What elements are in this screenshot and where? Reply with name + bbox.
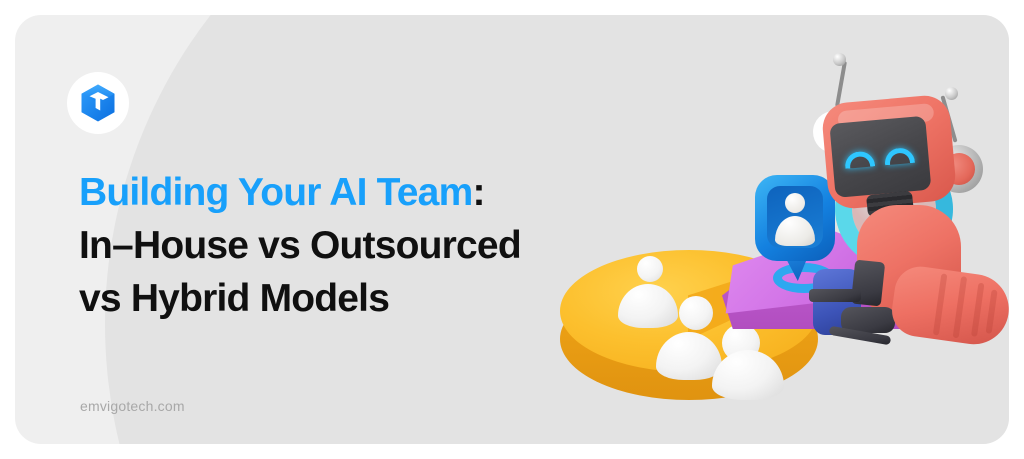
site-url-label: emvigotech.com: [80, 398, 185, 414]
robot-antenna-ball-right: [945, 87, 958, 100]
person-body: [618, 284, 678, 328]
banner-card: Building Your AI Team: In–House vs Outso…: [15, 15, 1009, 444]
brand-logo-badge[interactable]: [67, 72, 129, 134]
person-figure: [634, 256, 666, 282]
robot-icon: [795, 53, 1009, 383]
headline-line-3: vs Hybrid Models: [79, 277, 389, 320]
page-title: Building Your AI Team: In–House vs Outso…: [79, 166, 599, 325]
person-figure: [678, 296, 714, 330]
robot-antenna-ball-left: [833, 53, 846, 66]
headline-accent-text: Building Your AI Team: [79, 171, 472, 214]
person-head: [679, 296, 713, 330]
person-head: [637, 256, 663, 282]
robot-arm-segment: [971, 283, 984, 337]
headline-line-2: In–House vs Outsourced: [79, 224, 521, 267]
robot-arm-segment: [986, 290, 998, 334]
ai-team-3d-illustration: [550, 35, 1009, 444]
robot-antenna-left: [835, 61, 847, 107]
robot-eye-left: [844, 150, 875, 169]
robot-strap: [809, 289, 861, 302]
cube-logo-icon: [79, 83, 117, 123]
robot-eye-right: [884, 147, 915, 166]
headline-colon: :: [472, 171, 484, 214]
person-figure: [618, 284, 678, 328]
robot-arm-segment: [933, 273, 948, 335]
robot-face-screen: [829, 116, 931, 198]
robot-arm-segment: [953, 276, 968, 338]
robot-arm: [889, 263, 1009, 348]
